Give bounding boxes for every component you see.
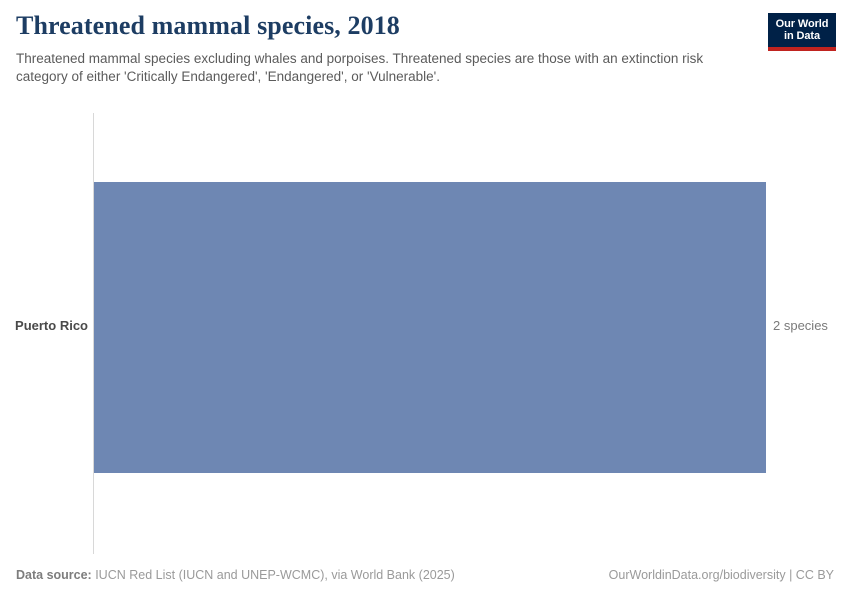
bar-row-puerto-rico: Puerto Rico 2 species [0, 105, 850, 550]
bar-puerto-rico[interactable] [94, 182, 766, 473]
plot-area: Puerto Rico 2 species [0, 105, 850, 550]
logo-line-1: Our World [776, 18, 829, 30]
chart-header: Threatened mammal species, 2018 Threaten… [16, 10, 834, 102]
chart-frame: Threatened mammal species, 2018 Threaten… [0, 0, 850, 600]
attribution-link[interactable]: OurWorldinData.org/biodiversity | CC BY [609, 567, 834, 583]
bar-value-label: 2 species [773, 318, 828, 334]
chart-footer: Data source: IUCN Red List (IUCN and UNE… [16, 566, 834, 584]
data-source-text: IUCN Red List (IUCN and UNEP-WCMC), via … [92, 568, 455, 582]
data-source-label: Data source: [16, 568, 92, 582]
data-source: Data source: IUCN Red List (IUCN and UNE… [16, 567, 455, 583]
logo-line-2: in Data [784, 30, 820, 42]
chart-subtitle: Threatened mammal species excluding whal… [16, 50, 746, 86]
bar-category-label: Puerto Rico [0, 318, 88, 334]
our-world-in-data-logo[interactable]: Our World in Data [768, 13, 836, 51]
page-title: Threatened mammal species, 2018 [16, 10, 834, 42]
